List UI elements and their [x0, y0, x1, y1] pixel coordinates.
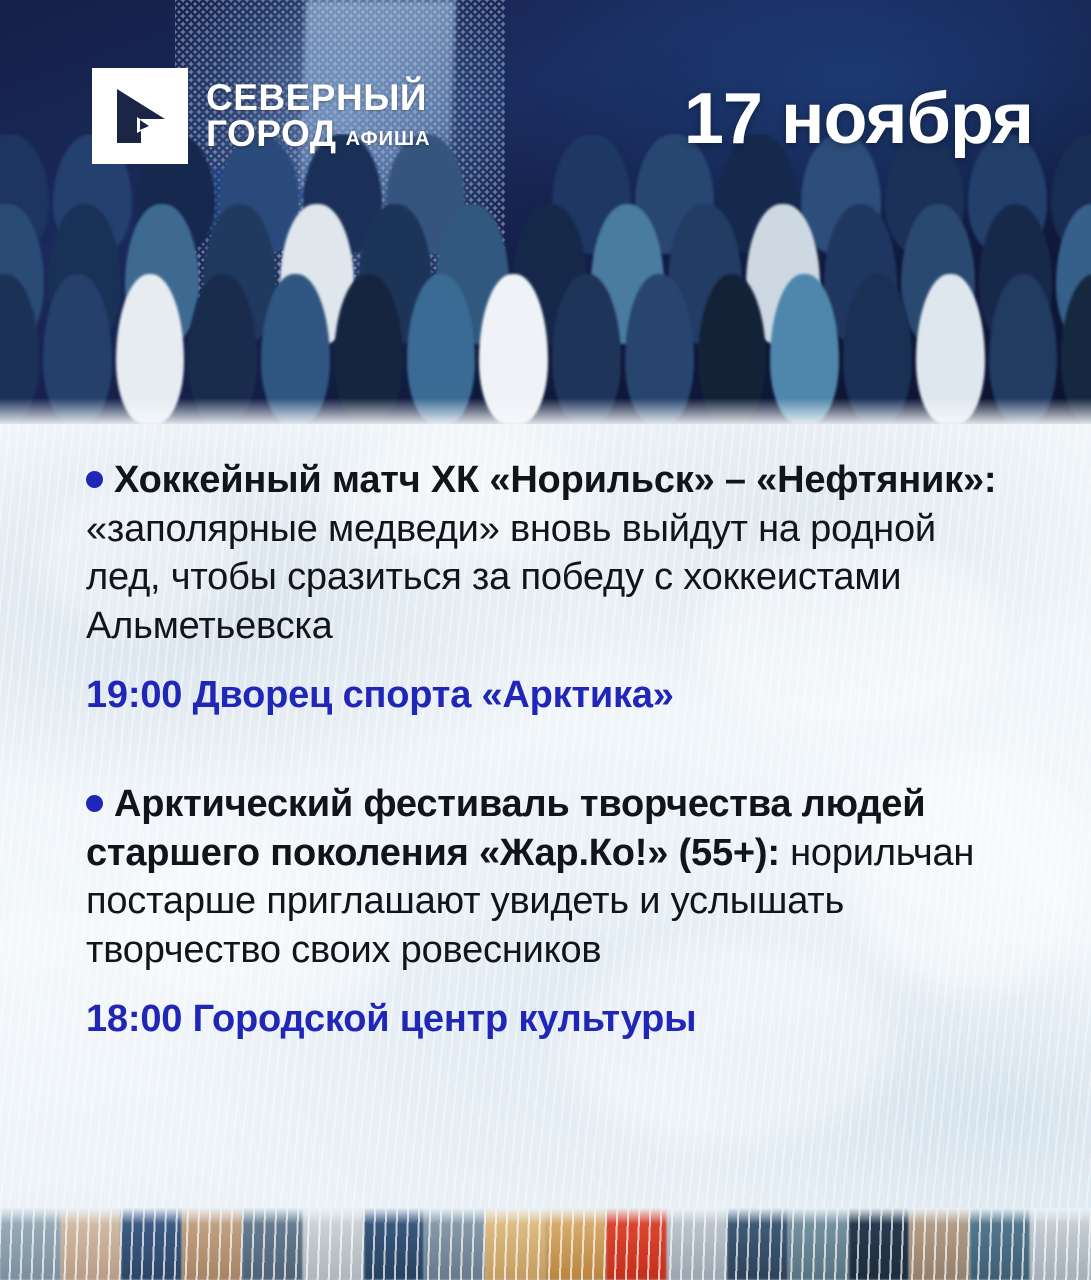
poster-date: 17 ноября [684, 78, 1033, 160]
crowd-of-fans [0, 134, 1091, 424]
blue-dot-bullet-icon [86, 795, 103, 812]
brand-logo[interactable]: СЕВЕРНЫЙ ГОРОД АФИША [92, 68, 431, 164]
event-venue: Городской центр культуры [193, 998, 697, 1040]
event-title: Хоккейный матч ХК «Норильск» – «Нефтяник… [114, 459, 996, 501]
event-time-venue: 19:00 Дворец спорта «Арктика» [86, 673, 1016, 719]
event-time: 19:00 [86, 674, 182, 716]
brand-line-1: СЕВЕРНЫЙ [206, 80, 431, 116]
event-time-venue: 18:00 Городской центр культуры [86, 997, 1016, 1043]
event-item: Арктический фестиваль творчества людей с… [86, 780, 1016, 1042]
events-list: Хоккейный матч ХК «Норильск» – «Нефтяник… [86, 456, 1016, 1050]
brand-wordmark: СЕВЕРНЫЙ ГОРОД АФИША [206, 80, 431, 151]
events-panel: Хоккейный матч ХК «Норильск» – «Нефтяник… [0, 424, 1091, 1208]
footer-fade [0, 1208, 1091, 1224]
poster-root: МЫ РОДНОЙ ЛЕД [0, 0, 1091, 1280]
northern-city-arrow-logo-icon [92, 68, 188, 164]
event-time: 18:00 [86, 998, 182, 1040]
events-spacer [86, 726, 1016, 780]
event-venue: Дворец спорта «Арктика» [193, 674, 674, 716]
brand-line-3: АФИША [346, 130, 431, 149]
footer-photo-strip [0, 1208, 1091, 1280]
event-description: «заполярные медведи» вновь выйдут на род… [86, 508, 936, 647]
brand-line-2: ГОРОД [206, 116, 337, 152]
hero-fade [0, 398, 1091, 424]
hero-photo: МЫ РОДНОЙ ЛЕД [0, 0, 1091, 424]
event-item: Хоккейный матч ХК «Норильск» – «Нефтяник… [86, 456, 1016, 718]
blue-dot-bullet-icon [86, 471, 103, 488]
event-paragraph: Арктический фестиваль творчества людей с… [86, 780, 1016, 975]
event-paragraph: Хоккейный матч ХК «Норильск» – «Нефтяник… [86, 456, 1016, 651]
